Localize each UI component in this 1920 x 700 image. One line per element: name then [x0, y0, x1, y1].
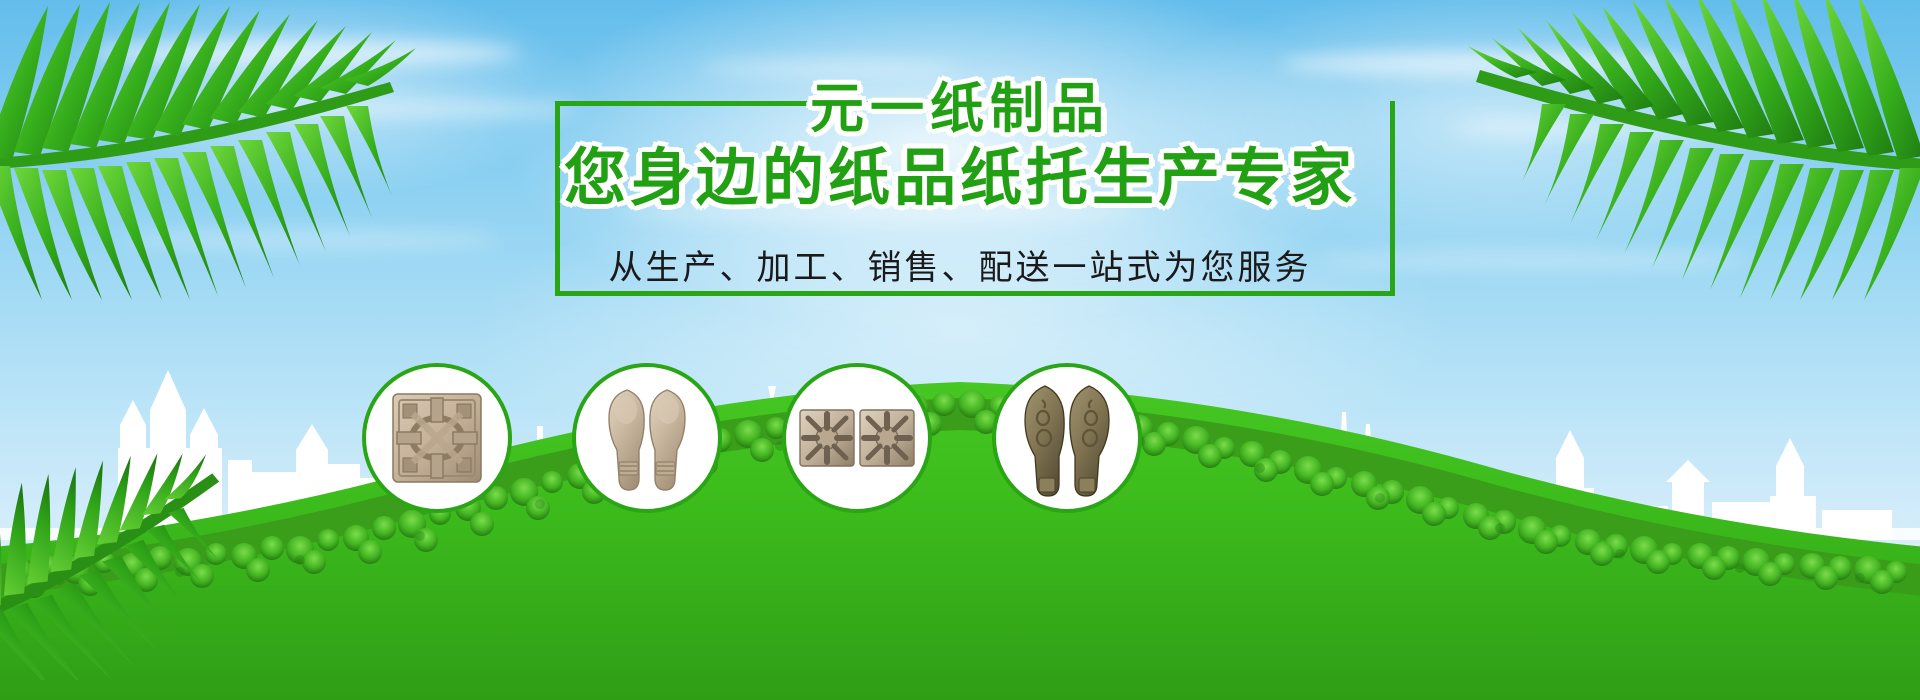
product-circle-square-pulp-tray[interactable] [362, 363, 512, 513]
headline-block: 元一纸制品 您身边的纸品纸托生产专家 从生产、加工、销售、配送一站式为您服务 [0, 78, 1920, 290]
promotional-banner: 元一纸制品 您身边的纸品纸托生产专家 从生产、加工、销售、配送一站式为您服务 [0, 0, 1920, 700]
product-circle-row [0, 355, 1920, 535]
brand-title: 元一纸制品 [0, 78, 1920, 140]
cloud-wisp [700, 60, 960, 76]
product-circle-paper-shoe-tree[interactable] [572, 363, 722, 513]
cloud-wisp [90, 40, 520, 66]
molded-pulp-square-tray-icon [377, 378, 497, 498]
molded-pulp-dark-shoe-insert-icon [1007, 374, 1127, 502]
molded-pulp-shoe-insert-icon [587, 374, 707, 502]
molded-pulp-double-tray-icon [794, 388, 920, 488]
headline-text: 您身边的纸品纸托生产专家 [0, 140, 1920, 218]
cloud-wisp [1280, 52, 1700, 76]
product-circle-dark-shoe-tree[interactable] [992, 363, 1142, 513]
subtitle-text: 从生产、加工、销售、配送一站式为您服务 [0, 246, 1920, 290]
product-circle-double-pulp-tray[interactable] [782, 363, 932, 513]
